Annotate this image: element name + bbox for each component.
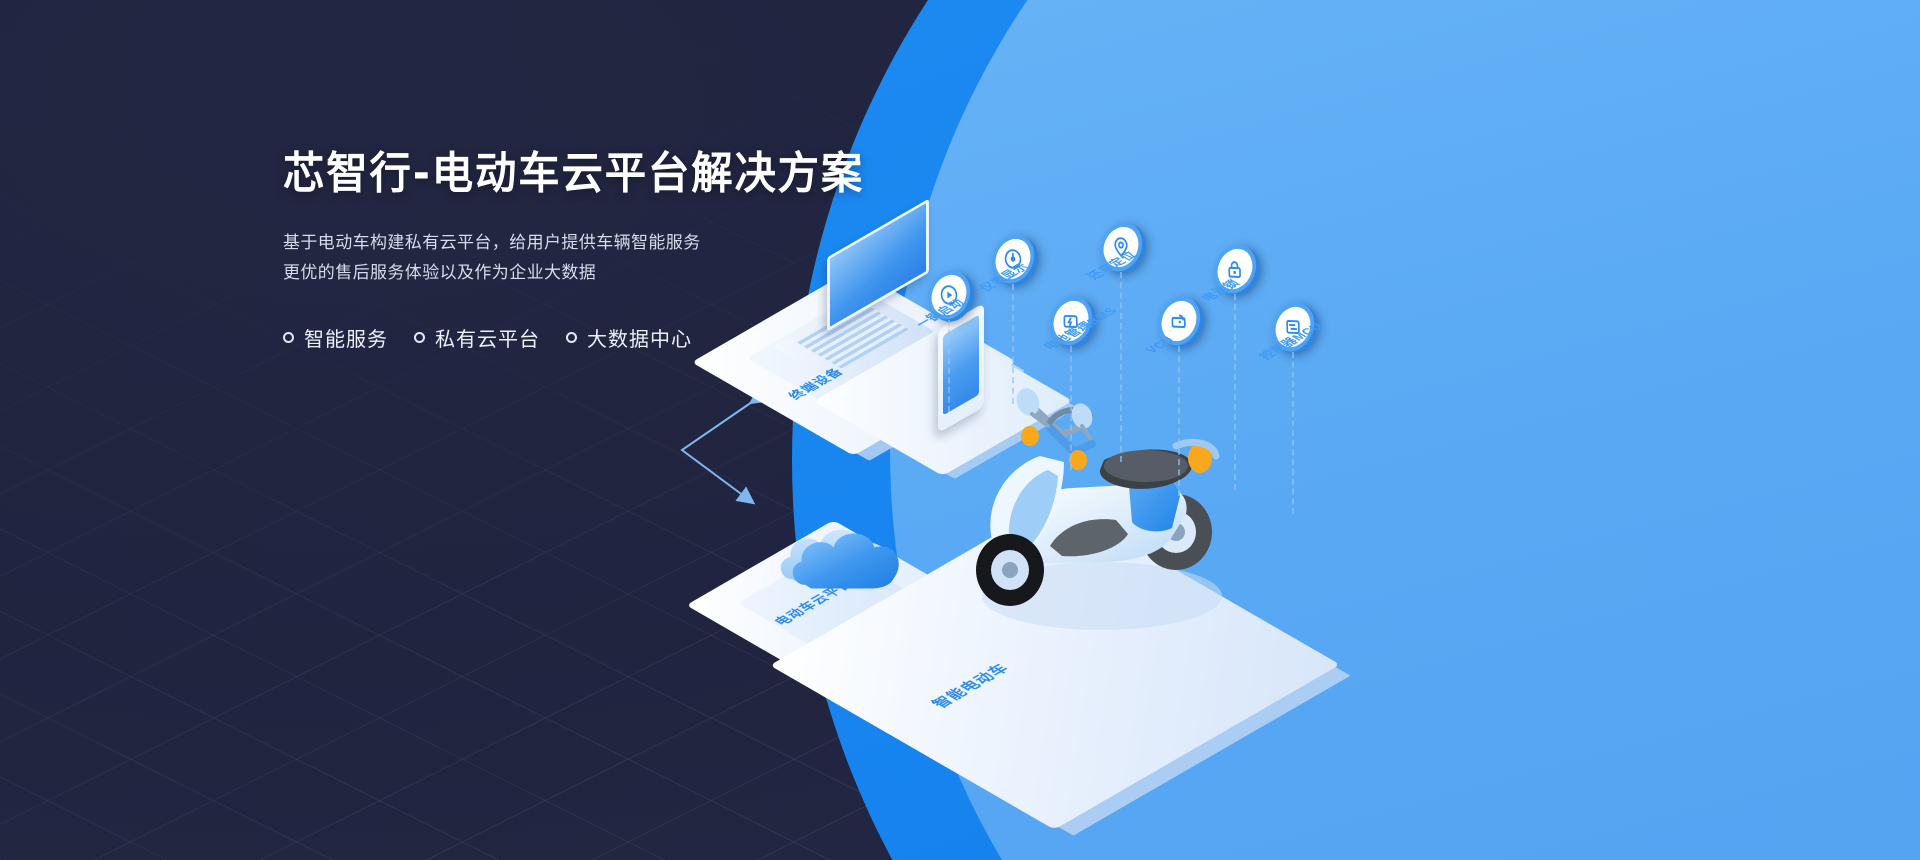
badge-mcu-controller[interactable]: 控制器MCU xyxy=(1270,304,1316,350)
badge-stem xyxy=(1292,352,1294,514)
badge-return-location[interactable]: 还车定位 xyxy=(1098,224,1144,270)
badge-battery-lock[interactable]: 电池锁 xyxy=(1212,246,1258,292)
hero-banner: 芯智行-电动车云平台解决方案 基于电动车构建私有云平台，给用户提供车辆智能服务 … xyxy=(0,0,1920,860)
badge-dashboard-display[interactable]: 仪表显示 xyxy=(990,236,1036,282)
badge-battery-management[interactable]: 电池管理BMS xyxy=(1048,298,1094,344)
ring-bullet-icon xyxy=(283,332,294,343)
feature-label: 智能服务 xyxy=(304,323,388,352)
badge-stem xyxy=(1178,346,1180,496)
badge-stem xyxy=(1234,294,1236,490)
feature-item-smart-service[interactable]: 智能服务 xyxy=(283,323,388,352)
badge-stem xyxy=(1012,284,1014,404)
control-unit-icon xyxy=(1169,309,1189,333)
badge-vcu[interactable]: VCU xyxy=(1156,298,1202,344)
badge-stem xyxy=(1120,272,1122,462)
badge-one-key-start[interactable]: 一键启动 xyxy=(926,272,972,318)
electric-scooter xyxy=(932,364,1262,644)
ring-bullet-icon xyxy=(414,332,425,343)
subtitle-line-1: 基于电动车构建私有云平台，给用户提供车辆智能服务 xyxy=(283,233,701,252)
feature-item-private-cloud[interactable]: 私有云平台 xyxy=(414,323,540,352)
ring-bullet-icon xyxy=(566,332,577,343)
isometric-illustration: 终端设备 电动车云平台 智能电动车 xyxy=(640,120,1640,820)
feature-label: 私有云平台 xyxy=(435,323,540,352)
badge-stem xyxy=(1070,346,1072,470)
subtitle-line-2: 更优的售后服务体验以及作为企业大数据 xyxy=(283,263,596,282)
badge-stem xyxy=(948,320,950,412)
arrow-terminal-cloud xyxy=(682,402,752,502)
